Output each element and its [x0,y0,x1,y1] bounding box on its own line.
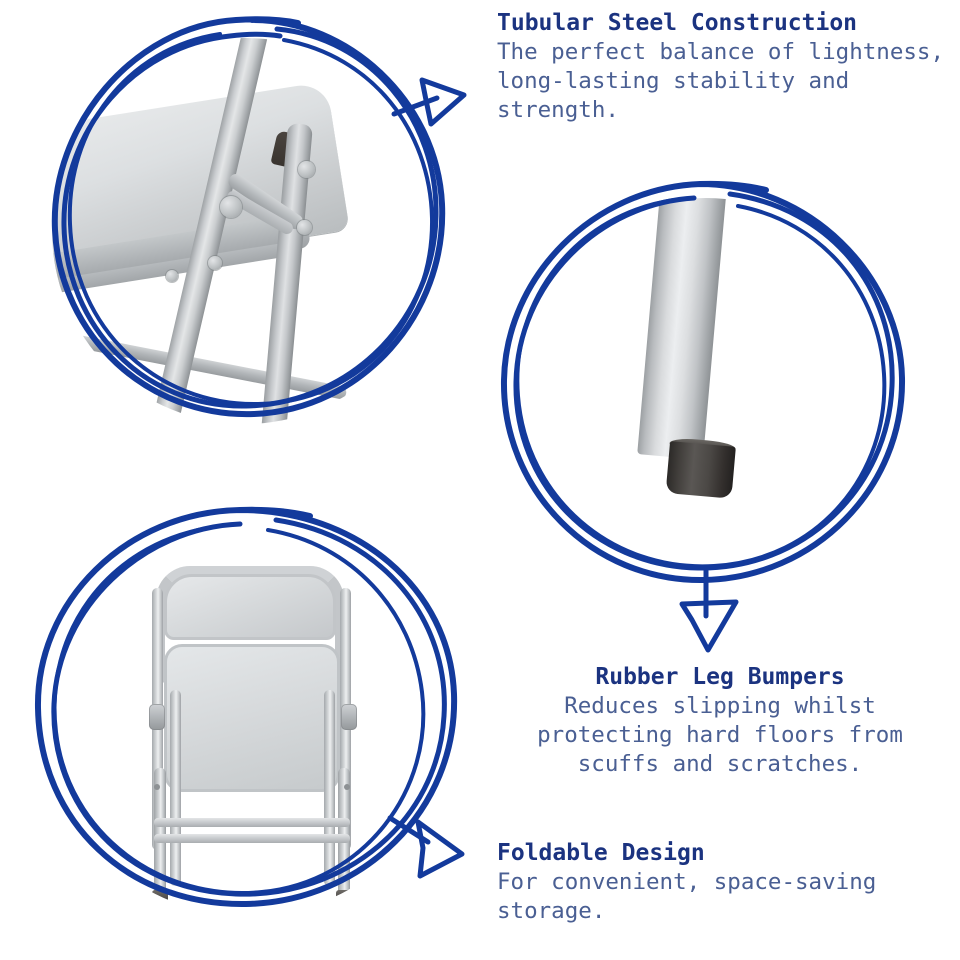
callout-body: The perfect balance of lightness, long-l… [497,38,949,125]
chair-leg-tube [637,198,728,460]
leg-crossbar-upper [154,818,350,827]
callout-body-line: For convenient, space-saving [497,868,947,897]
callout-heading: Tubular Steel Construction [497,8,949,38]
folded-chair-scene [48,528,448,916]
callout-body: For convenient, space-saving storage. [497,868,947,926]
callout-body-line: long-lasting stability and [497,67,949,96]
hinge-bracket-right [341,704,357,730]
rubber-bumper [666,441,736,499]
inner-tube-right [324,690,335,886]
callout-body-line: Reduces slipping whilst [500,692,940,721]
callout-foldable-design: Foldable Design For convenient, space-sa… [497,838,947,926]
hinge-rivet [208,256,222,270]
rubber-foot-left [152,890,168,904]
callout-body-line: strength. [497,96,949,125]
hinge-rivet [297,220,312,235]
photo-leg-bumper-closeup [510,198,902,628]
photo-folded-frame-closeup [52,38,438,424]
leg-crossbar-lower [154,834,350,843]
inner-tube-left [170,690,181,886]
callout-body: Reduces slipping whilst protecting hard … [500,692,940,779]
hinge-rivet [298,161,315,178]
callout-heading: Rubber Leg Bumpers [500,662,940,692]
hinge-rivet [220,196,242,218]
callout-rubber-leg-bumpers: Rubber Leg Bumpers Reduces slipping whil… [500,662,940,779]
callout-tubular-steel: Tubular Steel Construction The perfect b… [497,8,949,125]
cross-brace [52,326,347,400]
chair-frame-scene [52,38,438,424]
leg-stud-right [344,784,350,790]
rubber-foot-right [336,890,352,904]
infographic-page: Tubular Steel Construction The perfect b… [0,0,960,960]
callout-body-line: storage. [497,897,947,926]
callout-heading: Foldable Design [497,838,947,868]
seat-panel [164,644,340,792]
backrest-panel [164,574,336,640]
leg-bumper-scene [510,198,902,628]
callout-body-line: scuffs and scratches. [500,750,940,779]
hinge-bracket-left [149,704,165,730]
hinge-rivet [166,270,178,282]
photo-folded-chair-front [48,528,448,916]
leg-stud-left [154,784,160,790]
callout-body-line: protecting hard floors from [500,721,940,750]
callout-body-line: The perfect balance of lightness, [497,38,949,67]
